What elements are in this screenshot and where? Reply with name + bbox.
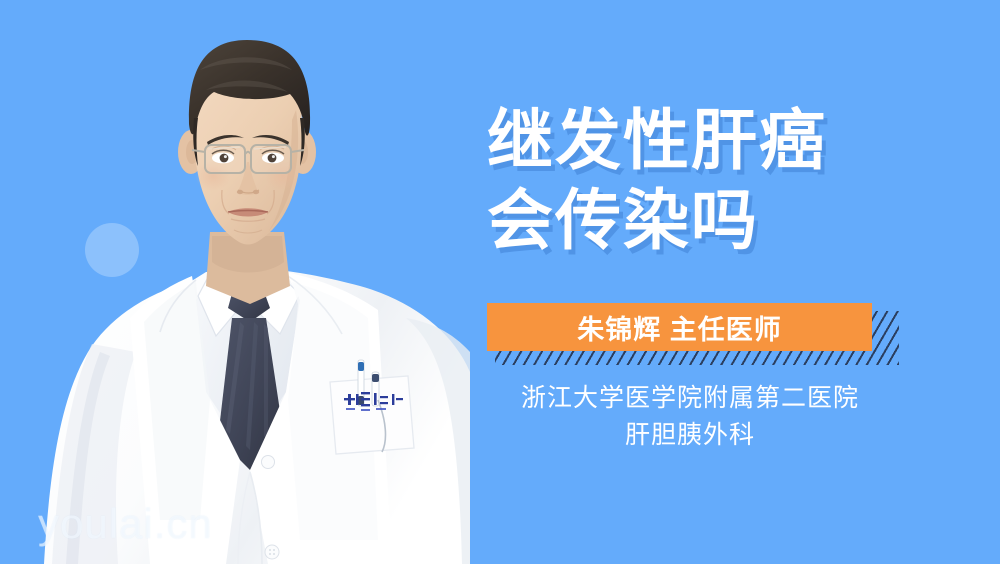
name-bar: 朱锦辉 主任医师 [487,303,872,351]
video-thumbnail-card: 继发性肝癌 会传染吗 朱锦辉 主任医师 浙江大学医学院附属第二医院 肝胆胰外科 … [0,0,1000,564]
doctor-portrait [0,0,470,564]
title-line-2: 会传染吗 [487,180,947,260]
video-title: 继发性肝癌 会传染吗 [487,100,947,260]
title-line-1: 继发性肝癌 [487,100,947,180]
hospital-affiliation: 浙江大学医学院附属第二医院 肝胆胰外科 [460,380,920,454]
name-bar-label: 朱锦辉 主任医师 [577,308,782,347]
hospital-line-2: 肝胆胰外科 [460,417,920,454]
doctor-name-badge: 朱锦辉 主任医师 [487,303,899,365]
hospital-line-1: 浙江大学医学院附属第二医院 [460,380,920,417]
